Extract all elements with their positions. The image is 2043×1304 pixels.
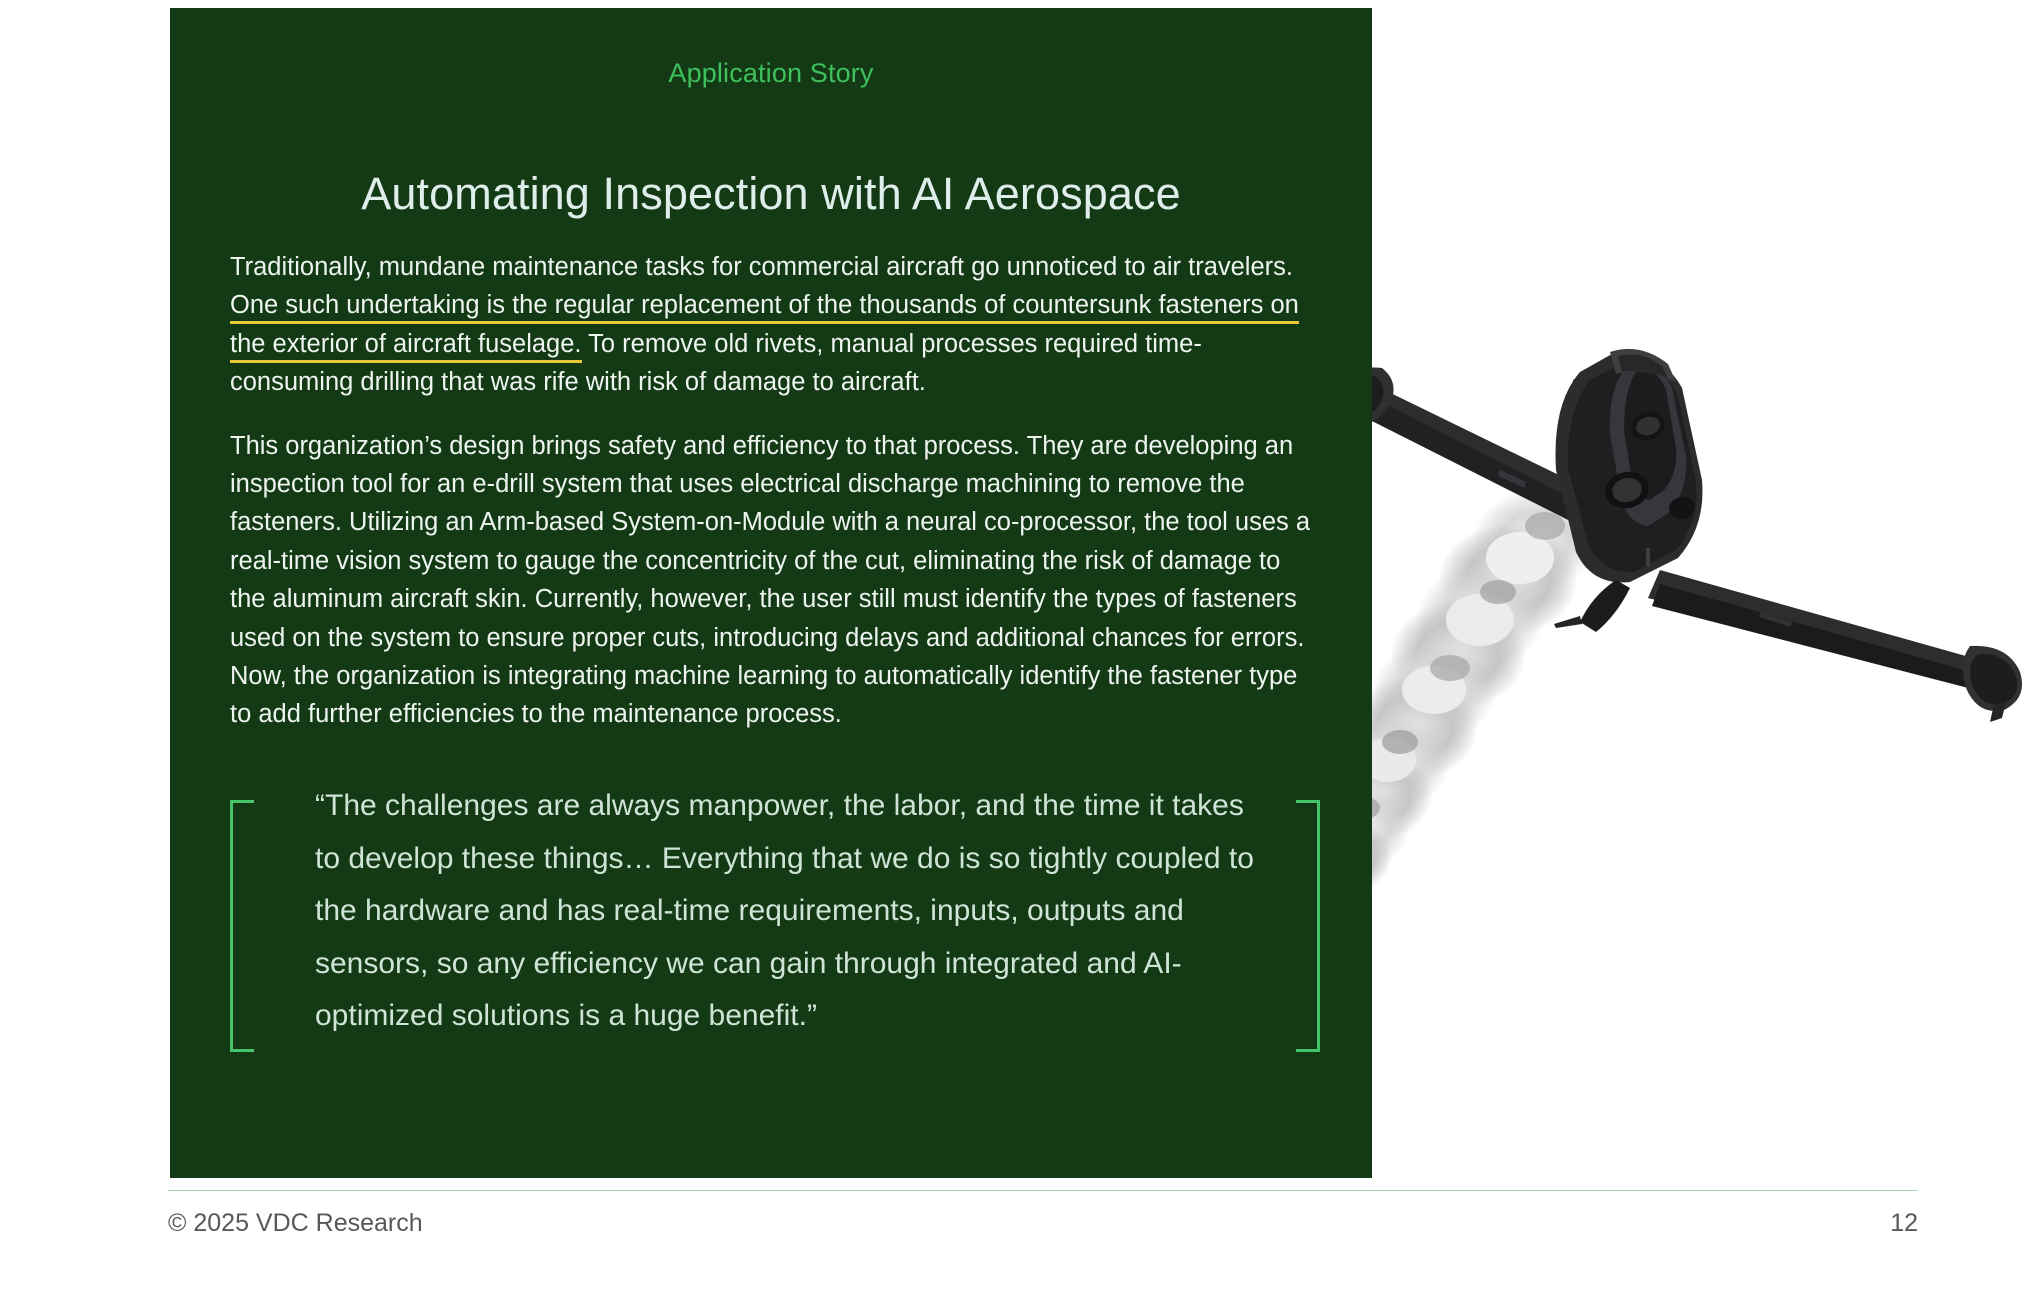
paragraph-1-lead: Traditionally, mundane maintenance tasks… [230,253,1293,281]
bracket-right-icon [1287,800,1320,1052]
content-panel: Application Story Automating Inspection … [170,8,1372,1178]
pull-quote-text: “The challenges are always manpower, the… [315,780,1255,1043]
bracket-right-top-serif [1296,800,1317,803]
bracket-left-top-serif [233,800,254,803]
aircraft-illustration [1330,330,2043,970]
page-title: Automating Inspection with AI Aerospace [170,168,1372,220]
paragraph-1: Traditionally, mundane maintenance tasks… [230,248,1320,402]
slide-kicker: Application Story [170,58,1372,89]
aircraft-body [1334,349,2022,722]
page-number: 12 [1890,1209,1918,1238]
body-copy: Traditionally, mundane maintenance tasks… [230,248,1320,734]
footer-divider [168,1190,1918,1191]
bracket-right-bottom-serif [1296,1049,1317,1052]
pull-quote: “The challenges are always manpower, the… [230,800,1320,1052]
footer-copyright: © 2025 VDC Research [168,1209,423,1238]
bracket-left-icon [230,800,263,1052]
bracket-left-bottom-serif [233,1049,254,1052]
paragraph-2: This organization’s design brings safety… [230,427,1320,734]
